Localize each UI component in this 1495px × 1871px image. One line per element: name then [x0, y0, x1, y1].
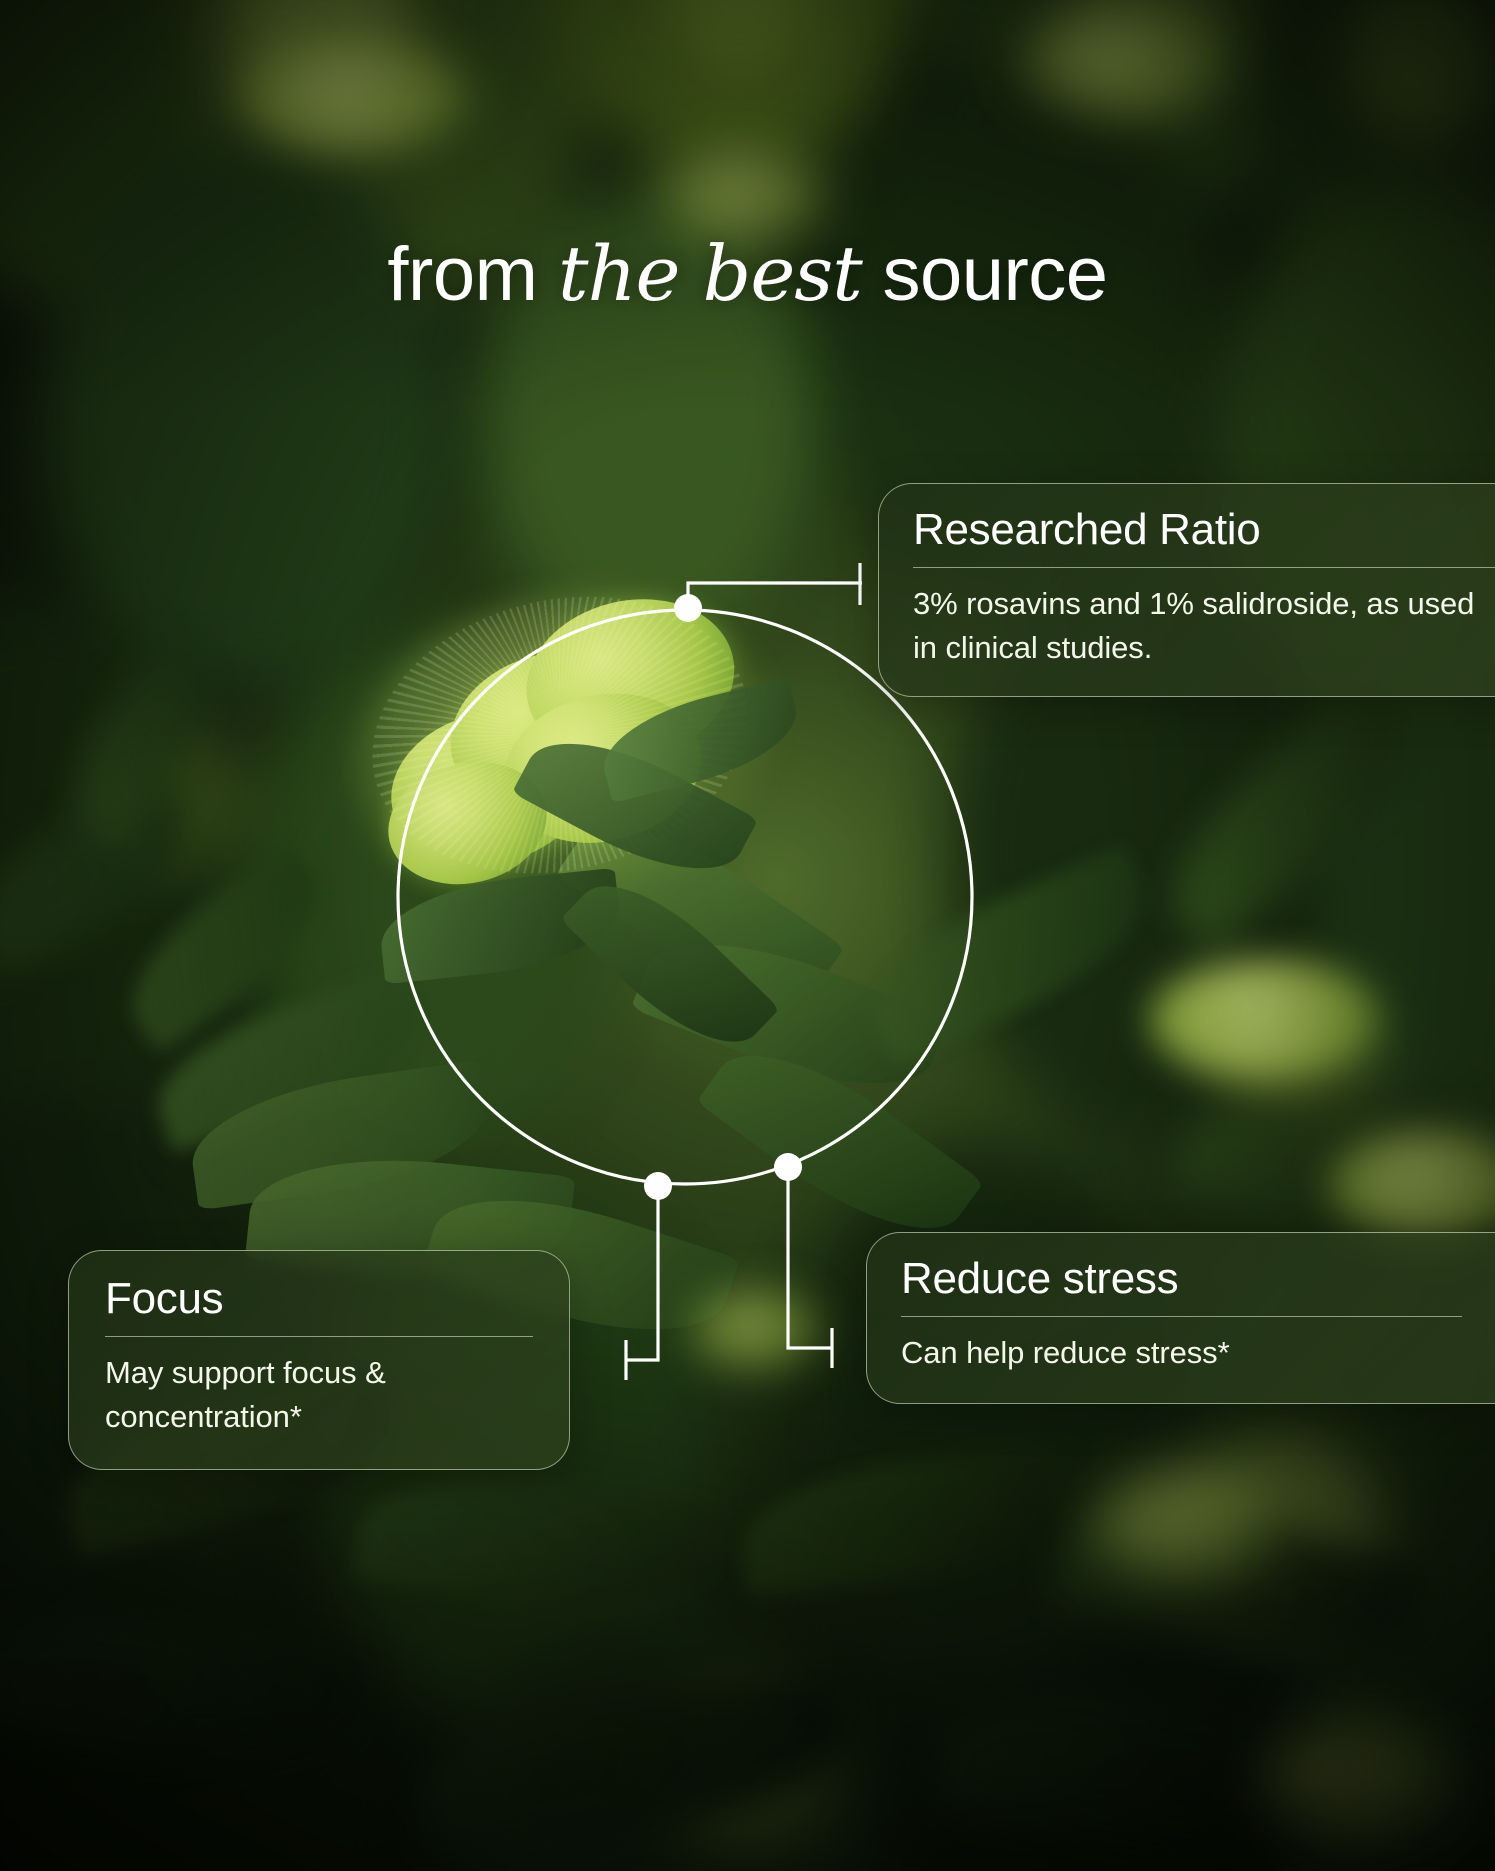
- card-title: Reduce stress: [901, 1255, 1462, 1303]
- headline-emphasis: the best: [558, 229, 862, 318]
- page-title: from the best source: [0, 236, 1495, 313]
- card-body: 3% rosavins and 1% salidroside, as used …: [913, 582, 1495, 670]
- card-title: Focus: [105, 1275, 533, 1323]
- info-card-reduce-stress[interactable]: Reduce stress Can help reduce stress*: [866, 1232, 1495, 1404]
- card-body: Can help reduce stress*: [901, 1331, 1462, 1375]
- card-divider: [901, 1316, 1462, 1317]
- headline-part-two: source: [862, 232, 1108, 317]
- card-title: Researched Ratio: [913, 506, 1495, 554]
- info-card-researched-ratio[interactable]: Researched Ratio 3% rosavins and 1% sali…: [878, 483, 1495, 697]
- headline-part-one: from: [387, 232, 558, 317]
- info-card-focus[interactable]: Focus May support focus & concentration*: [68, 1250, 570, 1470]
- card-body: May support focus & concentration*: [105, 1351, 533, 1439]
- promo-graphic: from the best source Researched Ratio 3%…: [0, 0, 1495, 1871]
- card-divider: [913, 567, 1495, 568]
- card-divider: [105, 1336, 533, 1337]
